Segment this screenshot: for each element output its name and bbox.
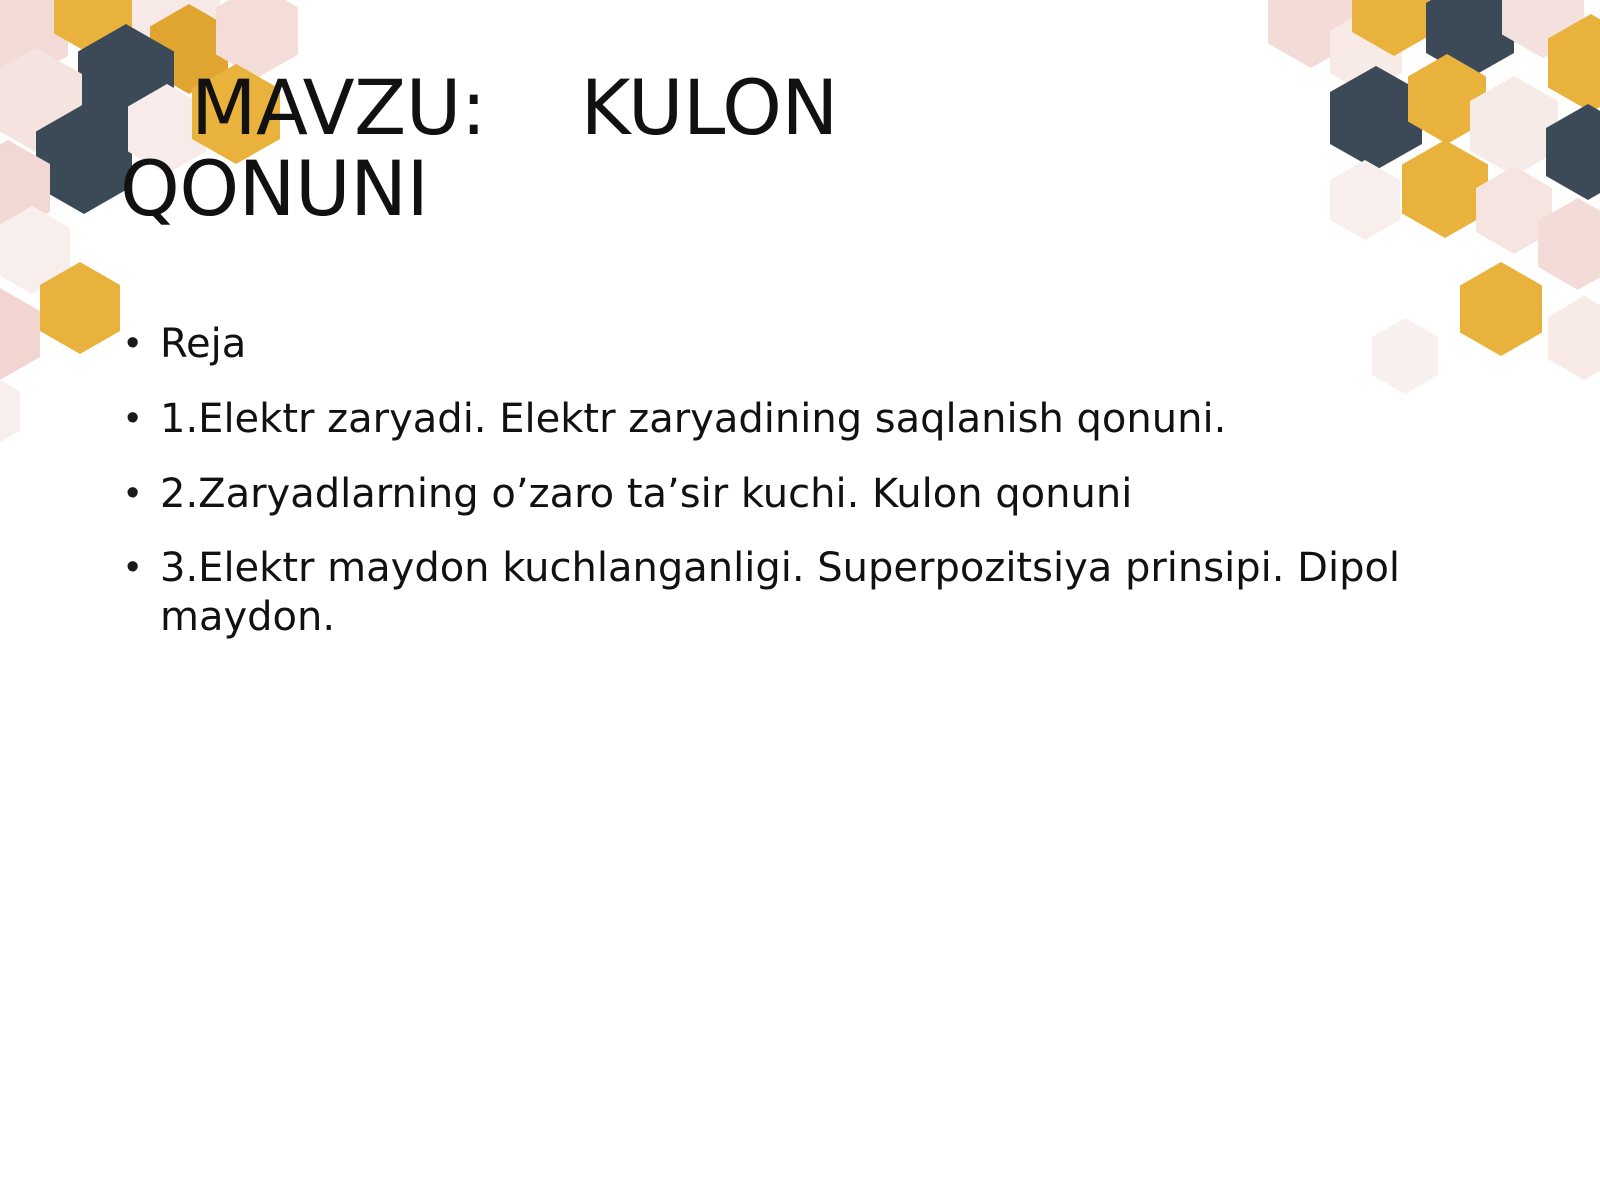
list-item: • 1.Elektr zaryadi. Elektr zaryadining s… <box>118 395 1418 444</box>
slide-title: MAVZU: KULON QONUNI <box>120 68 1300 229</box>
bullet-marker-icon: • <box>118 544 160 590</box>
list-item-text: 2.Zaryadlarning o’zaro ta’sir kuchi. Kul… <box>160 470 1418 519</box>
slide-title-line-2: QONUNI <box>120 149 1300 230</box>
bullet-marker-icon: • <box>118 395 160 441</box>
list-item: • 2.Zaryadlarning o’zaro ta’sir kuchi. K… <box>118 470 1418 519</box>
list-item: • Reja <box>118 320 1418 369</box>
slide-canvas: MAVZU: KULON QONUNI • Reja • 1.Elektr za… <box>0 0 1600 1200</box>
bullet-marker-icon: • <box>118 320 160 366</box>
slide-title-line-1: MAVZU: KULON <box>120 68 1300 149</box>
list-item-text: Reja <box>160 320 1418 369</box>
slide-body: • Reja • 1.Elektr zaryadi. Elektr zaryad… <box>118 320 1418 668</box>
list-item-text: 3.Elektr maydon kuchlanganligi. Superpoz… <box>160 544 1418 642</box>
list-item: • 3.Elektr maydon kuchlanganligi. Superp… <box>118 544 1418 642</box>
bullet-marker-icon: • <box>118 470 160 516</box>
list-item-text: 1.Elektr zaryadi. Elektr zaryadining saq… <box>160 395 1418 444</box>
